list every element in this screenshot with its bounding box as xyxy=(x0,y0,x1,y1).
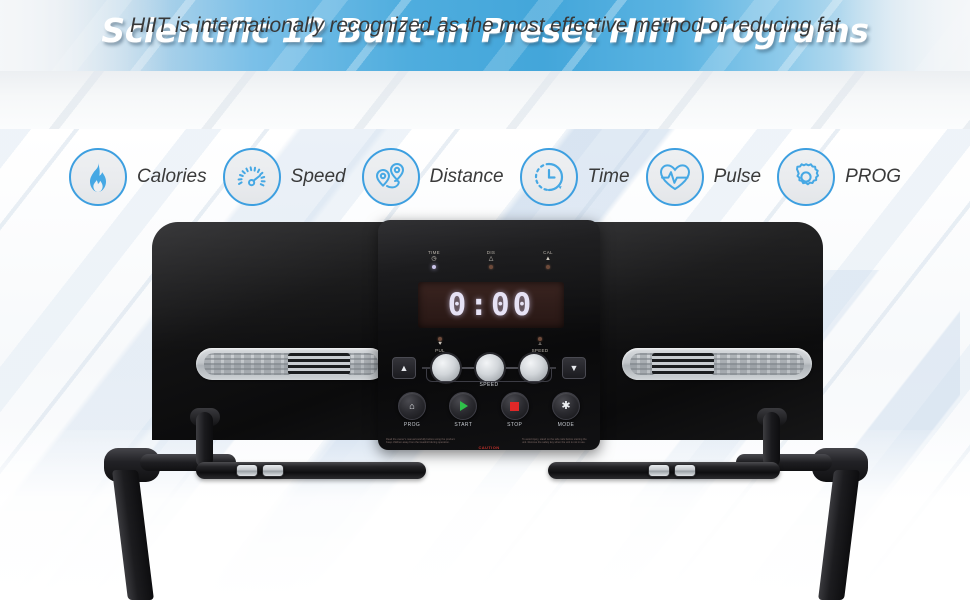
feature-label: Calories xyxy=(137,166,207,188)
asterisk-icon: ✱ xyxy=(561,401,570,412)
incline-down-handlebar-button[interactable] xyxy=(674,464,696,477)
feature-icon-row: Calories xyxy=(0,129,970,224)
grille-vent-slots xyxy=(288,353,350,375)
mode-button-face[interactable]: ✱ xyxy=(552,392,580,420)
speed-preset-row: ▲ ▼ SPEED xyxy=(392,354,586,384)
heart-glyph: ♥ xyxy=(422,341,458,348)
indicator-distance: DIS △ xyxy=(473,250,509,272)
left-speaker-grille xyxy=(196,348,386,380)
indicator-led xyxy=(546,265,550,269)
feature-icon-circle xyxy=(69,148,127,206)
flame-glyph: ▲ xyxy=(530,256,566,263)
feature-icon-circle xyxy=(646,148,704,206)
feature-icon-circle xyxy=(520,148,578,206)
flame-icon xyxy=(83,161,113,193)
indicator-speed: ▵ SPEED xyxy=(522,335,558,355)
feature-calories: Calories xyxy=(69,148,207,206)
prog-button-label: PROG xyxy=(394,422,430,428)
feature-time: Time xyxy=(520,148,630,206)
console-bottom-indicators: ♥ PUL ▵ SPEED xyxy=(422,335,558,355)
console-top-indicators: TIME ◷ DIS △ CAL ▲ xyxy=(416,250,566,272)
start-button-label: START xyxy=(445,422,481,428)
feature-label: Speed xyxy=(291,166,346,188)
map-pin-icon xyxy=(374,161,408,193)
speed-down-handlebar-button[interactable] xyxy=(262,464,284,477)
distance-glyph: △ xyxy=(473,256,509,263)
fine-print-left: Read the owner’s manual carefully before… xyxy=(386,438,456,445)
indicator-time: TIME ◷ xyxy=(416,250,452,272)
indicator-led xyxy=(489,265,493,269)
speed-up-handlebar-button[interactable] xyxy=(236,464,258,477)
right-handlebar-buttons[interactable] xyxy=(648,464,696,477)
led-display: 0:00 xyxy=(418,282,564,328)
heart-pulse-icon xyxy=(658,162,692,192)
feature-pulse: Pulse xyxy=(646,148,762,206)
feature-distance: Distance xyxy=(362,148,504,206)
console-main-buttons: ⌂ PROG START STOP xyxy=(394,392,584,434)
incline-up-handlebar-button[interactable] xyxy=(648,464,670,477)
feature-icon-circle xyxy=(777,148,835,206)
speedometer-icon xyxy=(235,162,269,192)
product-marketing-image: Scientific 12 Built-in Preset HIIT Progr… xyxy=(0,0,970,600)
fine-print-right: To avoid injury, stand on the side rails… xyxy=(522,438,592,445)
indicator-calories: CAL ▲ xyxy=(530,250,566,272)
feature-icon-circle xyxy=(362,148,420,206)
subtitle-band xyxy=(0,71,970,129)
mode-button-label: MODE xyxy=(548,422,584,428)
led-display-value: 0:00 xyxy=(448,290,535,321)
clock-glyph: ◷ xyxy=(416,256,452,263)
square-icon xyxy=(510,402,519,411)
speed-bracket xyxy=(426,368,552,382)
feature-label: PROG xyxy=(845,166,901,188)
indicator-led xyxy=(432,265,436,269)
stop-button-label: STOP xyxy=(497,422,533,428)
right-speaker-grille xyxy=(622,348,812,380)
speed-glyph: ▵ xyxy=(522,341,558,348)
page-subtitle: HIIT is internationally recognized as th… xyxy=(0,14,970,38)
indicator-pulse: ♥ PUL xyxy=(422,335,458,355)
speed-bracket-label: SPEED xyxy=(392,382,586,388)
left-handlebar-arm xyxy=(196,412,213,468)
play-icon xyxy=(460,401,468,411)
treadmill-console: TIME ◷ DIS △ CAL ▲ 0:00 xyxy=(378,220,600,450)
left-handlebar-buttons[interactable] xyxy=(236,464,284,477)
mode-button[interactable]: ✱ MODE xyxy=(548,392,584,434)
left-handlebar xyxy=(196,462,426,479)
right-handlebar-arm xyxy=(763,412,780,468)
feature-icon-circle xyxy=(223,148,281,206)
clock-icon xyxy=(533,161,565,193)
gear-icon xyxy=(790,161,822,193)
feature-label: Distance xyxy=(430,166,504,188)
speed-increase-button[interactable]: ▲ xyxy=(392,357,416,379)
stop-button-face[interactable] xyxy=(501,392,529,420)
left-upright-post xyxy=(112,470,154,600)
start-button[interactable]: START xyxy=(445,392,481,434)
right-upright-post xyxy=(818,470,860,600)
grille-vent-slots xyxy=(652,353,714,375)
feature-prog: PROG xyxy=(777,148,901,206)
stop-button[interactable]: STOP xyxy=(497,392,533,434)
speed-decrease-button[interactable]: ▼ xyxy=(562,357,586,379)
caution-label: CAUTION xyxy=(460,438,518,450)
console-fine-print: Read the owner’s manual carefully before… xyxy=(386,438,592,450)
feature-speed: Speed xyxy=(223,148,346,206)
prog-button[interactable]: ⌂ PROG xyxy=(394,392,430,434)
subtitle-band-streaks xyxy=(0,71,970,129)
start-button-face[interactable] xyxy=(449,392,477,420)
home-icon: ⌂ xyxy=(409,402,414,411)
treadmill-product-image: TIME ◷ DIS △ CAL ▲ 0:00 xyxy=(0,222,970,600)
prog-button-face[interactable]: ⌂ xyxy=(398,392,426,420)
feature-label: Time xyxy=(588,166,630,188)
feature-label: Pulse xyxy=(714,166,762,188)
